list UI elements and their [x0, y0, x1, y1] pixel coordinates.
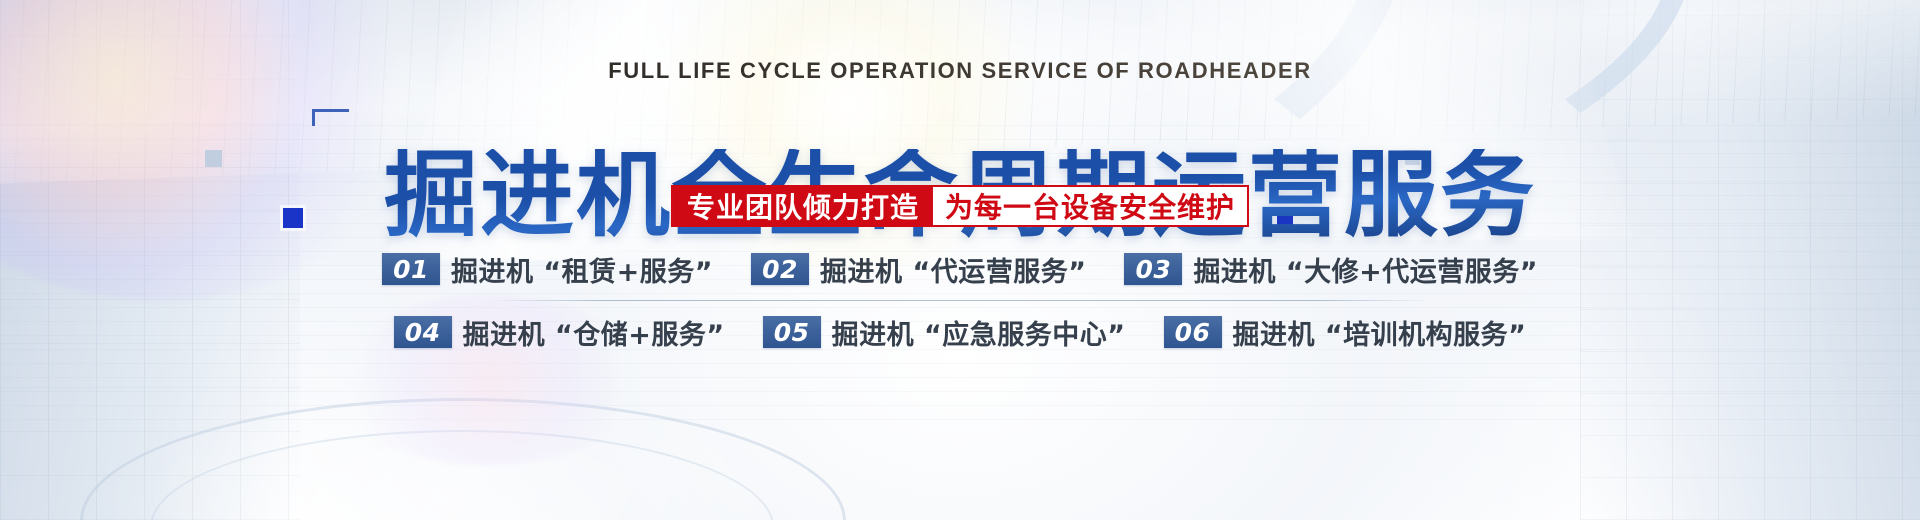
service-row-top: 01 掘进机 “租赁+服务” 02 掘进机 “代运营服务” 03 掘进机 “大修… [0, 243, 1920, 295]
service-item-04[interactable]: 04 掘进机 “仓储+服务” [394, 313, 725, 352]
service-label-03: 掘进机 “大修+代运营服务” [1193, 250, 1538, 289]
service-label-06: 掘进机 “培训机构服务” [1233, 313, 1527, 352]
service-badge-04: 04 [394, 316, 452, 348]
service-label-05: 掘进机 “应急服务中心” [832, 313, 1126, 352]
service-item-01[interactable]: 01 掘进机 “租赁+服务” [382, 250, 713, 289]
service-item-06[interactable]: 06 掘进机 “培训机构服务” [1164, 313, 1527, 352]
red-slogan-left: 专业团队倾力打造 [673, 187, 933, 225]
service-badge-03: 03 [1124, 253, 1182, 285]
service-badge-05: 05 [763, 316, 821, 348]
service-label-02: 掘进机 “代运营服务” [820, 250, 1086, 289]
service-badge-06: 06 [1164, 316, 1222, 348]
banner-content: FULL LIFE CYCLE OPERATION SERVICE OF ROA… [0, 0, 1920, 520]
service-row-bottom: 04 掘进机 “仓储+服务” 05 掘进机 “应急服务中心” 06 掘进机 “培… [0, 306, 1920, 358]
service-item-05[interactable]: 05 掘进机 “应急服务中心” [763, 313, 1126, 352]
hero-banner: FULL LIFE CYCLE OPERATION SERVICE OF ROA… [0, 0, 1920, 520]
red-slogan-bar: 专业团队倾力打造 为每一台设备安全维护 [671, 185, 1249, 227]
service-badge-02: 02 [751, 253, 809, 285]
service-list-divider [490, 300, 1430, 301]
service-item-03[interactable]: 03 掘进机 “大修+代运营服务” [1124, 250, 1538, 289]
service-badge-01: 01 [382, 253, 440, 285]
banner-eyebrow-english: FULL LIFE CYCLE OPERATION SERVICE OF ROA… [0, 58, 1920, 84]
service-label-04: 掘进机 “仓储+服务” [463, 313, 725, 352]
service-item-02[interactable]: 02 掘进机 “代运营服务” [751, 250, 1086, 289]
red-slogan-right: 为每一台设备安全维护 [933, 187, 1247, 225]
service-label-01: 掘进机 “租赁+服务” [451, 250, 713, 289]
service-list: 01 掘进机 “租赁+服务” 02 掘进机 “代运营服务” 03 掘进机 “大修… [0, 243, 1920, 358]
